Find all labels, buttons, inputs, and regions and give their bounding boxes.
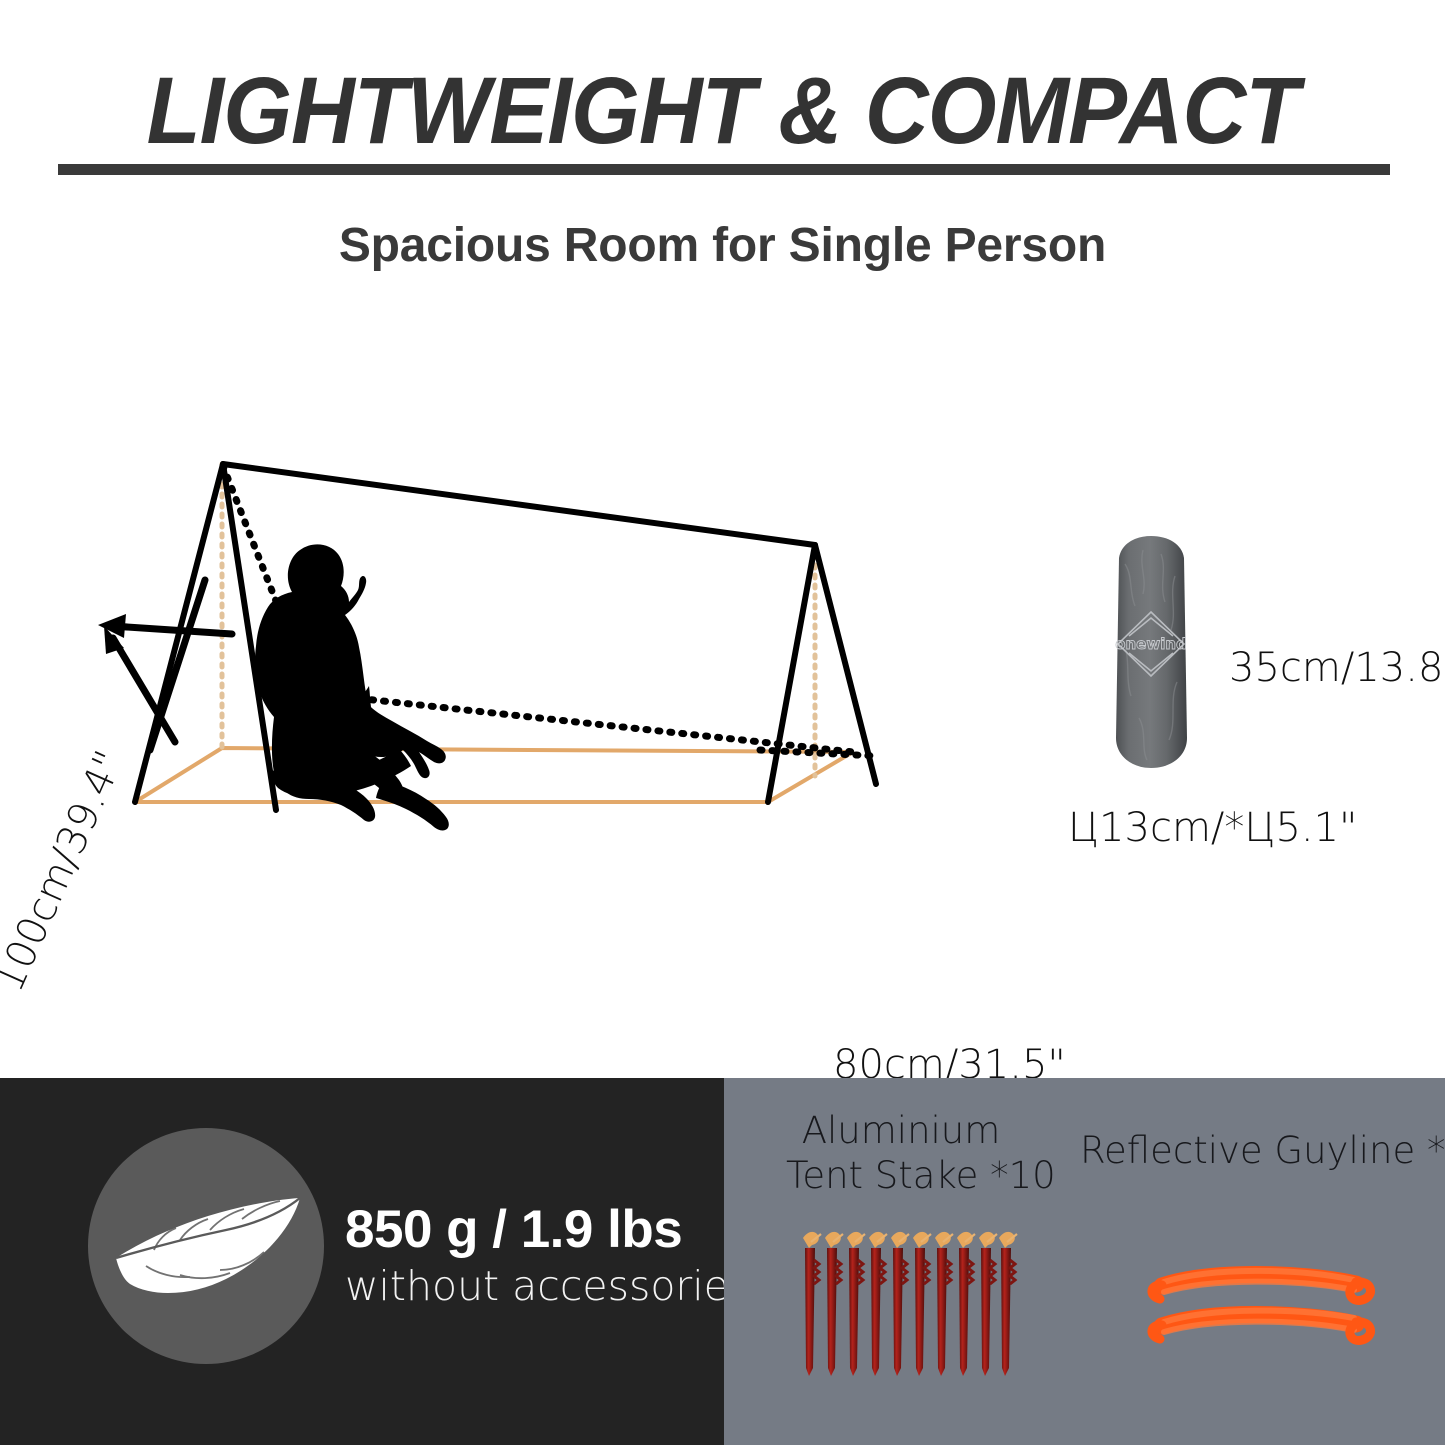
ridge-line [223, 464, 815, 545]
tent-floor-outline [135, 748, 853, 802]
page-subtitle: Spacious Room for Single Person [0, 218, 1445, 273]
tent-stakes-image [795, 1208, 1020, 1436]
feather-icon [110, 1190, 306, 1310]
onewind-logo-text: onewind [1115, 635, 1187, 653]
weight-note: without accessories [345, 1262, 750, 1310]
sack-height-label: 35cm/13.8" [1229, 645, 1445, 691]
title-underline-rule [58, 164, 1390, 175]
tent-stake-label-line2: Tent Stake *10 [786, 1153, 1016, 1198]
stuff-sack-image: onewind [1099, 532, 1204, 772]
person-silhouette [255, 544, 449, 830]
tent-stake-label-line1: Aluminium [786, 1108, 1016, 1153]
reflective-guyline-image [1140, 1252, 1390, 1372]
weight-value: 850 g / 1.9 lbs [345, 1199, 682, 1260]
guyline-label: Reflective Guyline *2 [1080, 1128, 1420, 1173]
stake-group [803, 1232, 1017, 1376]
guyline-label-line1: Reflective Guyline *2 [1080, 1128, 1420, 1173]
front-left-leg [768, 545, 815, 802]
height-tick-1 [150, 580, 205, 750]
tent-stake-label: Aluminium Tent Stake *10 [786, 1108, 1016, 1198]
infographic-page: LIGHTWEIGHT & COMPACT Spacious Room for … [0, 0, 1445, 1445]
sack-diameter-label: Ц13cm/*Ц5.1" [1068, 805, 1357, 851]
page-title: LIGHTWEIGHT & COMPACT [51, 62, 1395, 162]
